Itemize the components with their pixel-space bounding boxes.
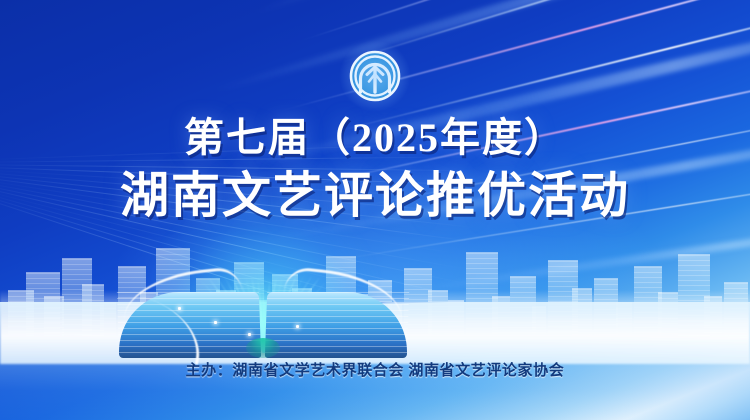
sparkle [296, 325, 299, 328]
light-streak [249, 0, 750, 19]
book-spine [246, 338, 280, 358]
light-streak [208, 0, 750, 97]
sparkle [214, 321, 217, 324]
page-title: 第七届（2025年度） 湖南文艺评论推优活动 [0, 112, 750, 227]
hunan-federation-emblem-icon [347, 48, 403, 104]
light-streak [300, 0, 750, 42]
title-line-1: 第七届（2025年度） [0, 112, 750, 163]
poster-canvas: 第七届（2025年度） 湖南文艺评论推优活动 主办：湖南省文学艺术界联合会 湖南… [0, 0, 750, 420]
sparkle [178, 307, 181, 310]
sparkle [248, 333, 251, 336]
organizer-subtitle: 主办：湖南省文学艺术界联合会 湖南省文艺评论家协会 [0, 359, 750, 380]
logo-halo [339, 40, 411, 112]
title-line-2: 湖南文艺评论推优活动 [0, 165, 750, 227]
